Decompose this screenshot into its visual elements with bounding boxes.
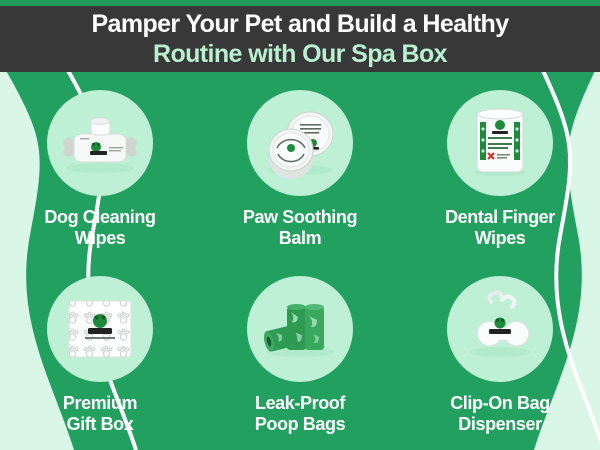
product-image-circle: [47, 276, 153, 382]
product-card-premium-gift-box: Premium Gift Box: [0, 264, 200, 450]
product-label: Paw Soothing Balm: [243, 207, 357, 249]
product-image-circle: [447, 90, 553, 196]
product-label: Dog Cleaning Wipes: [44, 207, 155, 249]
product-card-dog-cleaning-wipes: Dog Cleaning Wipes: [0, 78, 200, 264]
headline-line-2: Routine with Our Spa Box: [153, 39, 447, 69]
product-card-leak-proof-poop-bags: Leak-Proof Poop Bags: [200, 264, 400, 450]
product-image-circle: [247, 90, 353, 196]
canister-icon: [447, 90, 553, 196]
promo-graphic: Pamper Your Pet and Build a Healthy Rout…: [0, 0, 600, 450]
gift-box-icon: [47, 276, 153, 382]
bone-dispenser-icon: [447, 276, 553, 382]
product-label: Leak-Proof Poop Bags: [255, 393, 345, 435]
header-banner: Pamper Your Pet and Build a Healthy Rout…: [0, 6, 600, 72]
product-image-circle: [247, 276, 353, 382]
product-image-circle: [47, 90, 153, 196]
product-card-paw-soothing-balm: Paw Soothing Balm: [200, 78, 400, 264]
headline-line-1: Pamper Your Pet and Build a Healthy: [91, 9, 508, 39]
product-label: Premium Gift Box: [63, 393, 137, 435]
product-grid: Dog Cleaning Wipes: [0, 78, 600, 450]
product-image-circle: [447, 276, 553, 382]
product-label: Clip-On Bag Dispenser: [450, 393, 550, 435]
wipes-pack-icon: [47, 90, 153, 196]
product-card-dental-finger-wipes: Dental Finger Wipes: [400, 78, 600, 264]
poop-bag-rolls-icon: [247, 276, 353, 382]
balm-tin-icon: [247, 90, 353, 196]
product-card-clip-on-bag-dispenser: Clip-On Bag Dispenser: [400, 264, 600, 450]
product-label: Dental Finger Wipes: [445, 207, 555, 249]
